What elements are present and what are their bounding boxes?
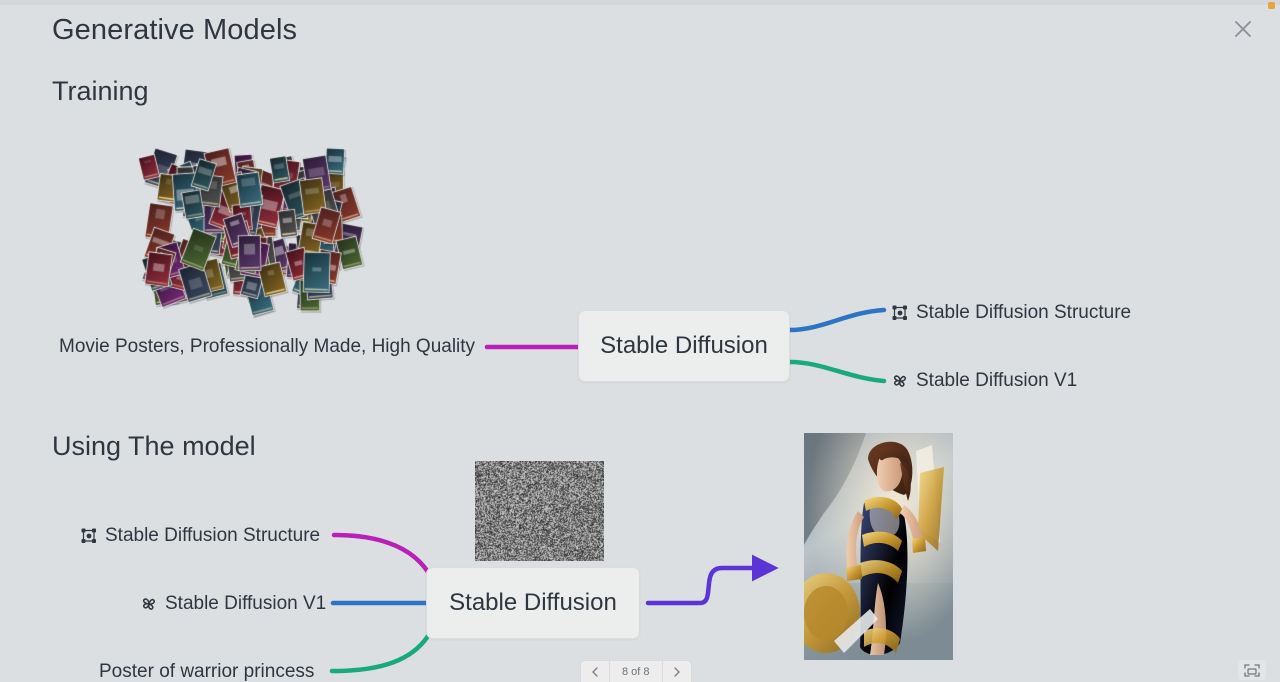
prev-page-button[interactable]: [581, 661, 609, 682]
training-output-v1-text: Stable Diffusion V1: [916, 370, 1077, 392]
dataset-image: [134, 142, 368, 322]
chevron-right-icon: [673, 667, 681, 677]
using-input-structure[interactable]: Stable Diffusion Structure: [80, 525, 320, 547]
close-icon: [1232, 18, 1254, 40]
using-input-v1[interactable]: Stable Diffusion V1: [140, 593, 326, 615]
training-output-v1[interactable]: Stable Diffusion V1: [891, 370, 1077, 392]
close-button[interactable]: [1228, 14, 1258, 44]
swirl-icon: [140, 595, 158, 613]
chevron-left-icon: [591, 667, 599, 677]
using-input-v1-text: Stable Diffusion V1: [165, 593, 326, 615]
wire-use-structure: [334, 535, 428, 572]
fit-screen-icon: [1244, 664, 1260, 677]
noise-image: [475, 461, 604, 561]
page-count: 8 of 8: [609, 661, 663, 682]
swirl-icon: [891, 372, 909, 390]
structure-icon: [891, 304, 909, 322]
wire-train-v1: [790, 362, 884, 381]
using-input-prompt: Poster of warrior princess: [99, 661, 314, 682]
generated-output-image: [804, 433, 953, 660]
node-label: Stable Diffusion: [449, 589, 617, 617]
wire-train-structure: [790, 310, 884, 330]
next-page-button[interactable]: [663, 661, 691, 682]
window-top-strip: [0, 0, 1280, 5]
node-label: Stable Diffusion: [600, 332, 768, 360]
fit-screen-button[interactable]: [1238, 660, 1266, 680]
structure-icon: [80, 527, 98, 545]
training-output-structure[interactable]: Stable Diffusion Structure: [891, 302, 1131, 324]
section-heading-using: Using The model: [52, 431, 256, 462]
using-input-prompt-text: Poster of warrior princess: [99, 661, 314, 682]
training-input-label: Movie Posters, Professionally Made, High…: [59, 336, 475, 358]
page-navigator[interactable]: 8 of 8: [580, 660, 692, 682]
status-dot: [1268, 2, 1275, 9]
page-title: Generative Models: [52, 14, 297, 47]
training-input-text: Movie Posters, Professionally Made, High…: [59, 336, 475, 358]
wire-use-prompt: [332, 636, 428, 671]
node-stable-diffusion-training[interactable]: Stable Diffusion: [578, 310, 790, 382]
slide-canvas: Generative Models Training Using The mod…: [0, 0, 1280, 682]
using-input-structure-text: Stable Diffusion Structure: [105, 525, 320, 547]
node-stable-diffusion-inference[interactable]: Stable Diffusion: [426, 567, 640, 639]
section-heading-training: Training: [52, 76, 149, 107]
training-output-structure-text: Stable Diffusion Structure: [916, 302, 1131, 324]
wire-use-output: [648, 568, 772, 603]
